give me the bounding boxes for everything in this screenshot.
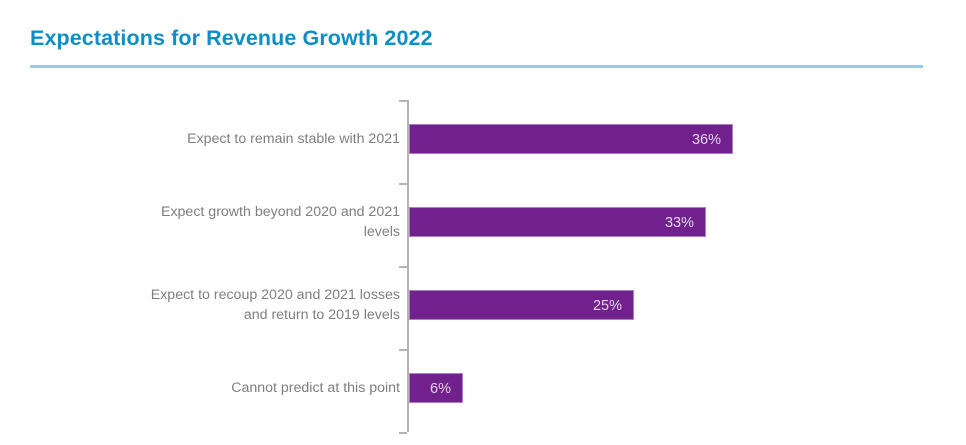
axis-tick	[399, 266, 407, 268]
bar-row: Expect growth beyond 2020 and 2021 level…	[0, 207, 966, 237]
bar-value-label: 6%	[430, 374, 451, 404]
category-label: Cannot predict at this point	[70, 378, 400, 398]
chart-page: Expectations for Revenue Growth 2022 Exp…	[0, 0, 966, 445]
bar-row: Expect to remain stable with 2021 36%	[0, 124, 966, 154]
category-label: Expect growth beyond 2020 and 2021 level…	[70, 202, 400, 242]
bar[interactable]: 33%	[409, 207, 706, 237]
axis-tick	[399, 100, 407, 102]
bar[interactable]: 25%	[409, 290, 634, 320]
bar-row: Cannot predict at this point 6%	[0, 373, 966, 403]
axis-tick	[399, 432, 407, 434]
axis-tick	[399, 349, 407, 351]
category-label: Expect to recoup 2020 and 2021 losses an…	[70, 285, 400, 325]
bar-row: Expect to recoup 2020 and 2021 losses an…	[0, 290, 966, 320]
plot-area: Expect to remain stable with 2021 36% Ex…	[0, 85, 966, 445]
axis-tick	[399, 183, 407, 185]
bar-value-label: 33%	[665, 208, 694, 238]
bar-value-label: 36%	[692, 125, 721, 155]
title-divider	[30, 65, 923, 68]
bar-value-label: 25%	[593, 291, 622, 321]
category-label: Expect to remain stable with 2021	[70, 129, 400, 149]
bar[interactable]: 36%	[409, 124, 733, 154]
page-title: Expectations for Revenue Growth 2022	[30, 26, 433, 51]
bar[interactable]: 6%	[409, 373, 463, 403]
